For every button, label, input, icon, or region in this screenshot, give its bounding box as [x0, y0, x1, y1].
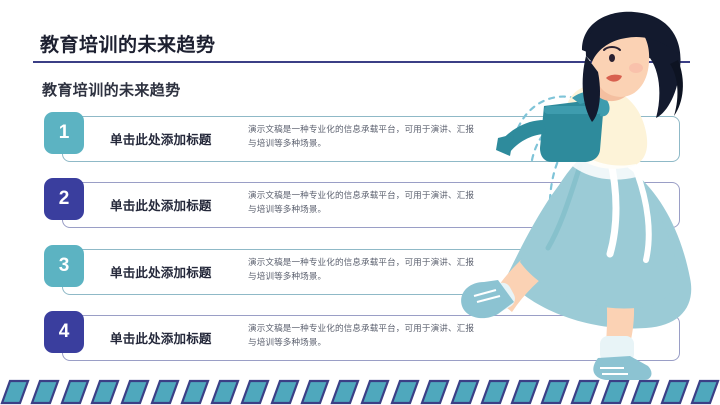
bottom-stripe-border	[0, 379, 720, 405]
list-item[interactable]: 1 单击此处添加标题 演示文稿是一种专业化的信息承载平台，可用于演讲、汇报与培训…	[44, 116, 680, 162]
row-body-text[interactable]: 演示文稿是一种专业化的信息承载平台，可用于演讲、汇报与培训等多种场景。	[248, 321, 480, 349]
list-item[interactable]: 3 单击此处添加标题 演示文稿是一种专业化的信息承载平台，可用于演讲、汇报与培训…	[44, 249, 680, 295]
row-number-badge: 4	[44, 311, 84, 353]
row-title[interactable]: 单击此处添加标题	[110, 195, 212, 214]
stripe-pattern	[0, 379, 720, 405]
content-list: 1 单击此处添加标题 演示文稿是一种专业化的信息承载平台，可用于演讲、汇报与培训…	[0, 0, 720, 405]
row-title[interactable]: 单击此处添加标题	[110, 129, 212, 148]
row-title[interactable]: 单击此处添加标题	[110, 262, 212, 281]
row-body-text[interactable]: 演示文稿是一种专业化的信息承载平台，可用于演讲、汇报与培训等多种场景。	[248, 255, 480, 283]
row-number-badge: 3	[44, 245, 84, 287]
row-number-badge: 1	[44, 112, 84, 154]
slide-canvas: 教育培训的未来趋势 教育培训的未来趋势 1 单击此处添加标题 演示文稿是一种专业…	[0, 0, 720, 405]
row-number-badge: 2	[44, 178, 84, 220]
row-title[interactable]: 单击此处添加标题	[110, 328, 212, 347]
list-item[interactable]: 4 单击此处添加标题 演示文稿是一种专业化的信息承载平台，可用于演讲、汇报与培训…	[44, 315, 680, 361]
row-body-text[interactable]: 演示文稿是一种专业化的信息承载平台，可用于演讲、汇报与培训等多种场景。	[248, 122, 480, 150]
list-item[interactable]: 2 单击此处添加标题 演示文稿是一种专业化的信息承载平台，可用于演讲、汇报与培训…	[44, 182, 680, 228]
row-body-text[interactable]: 演示文稿是一种专业化的信息承载平台，可用于演讲、汇报与培训等多种场景。	[248, 188, 480, 216]
